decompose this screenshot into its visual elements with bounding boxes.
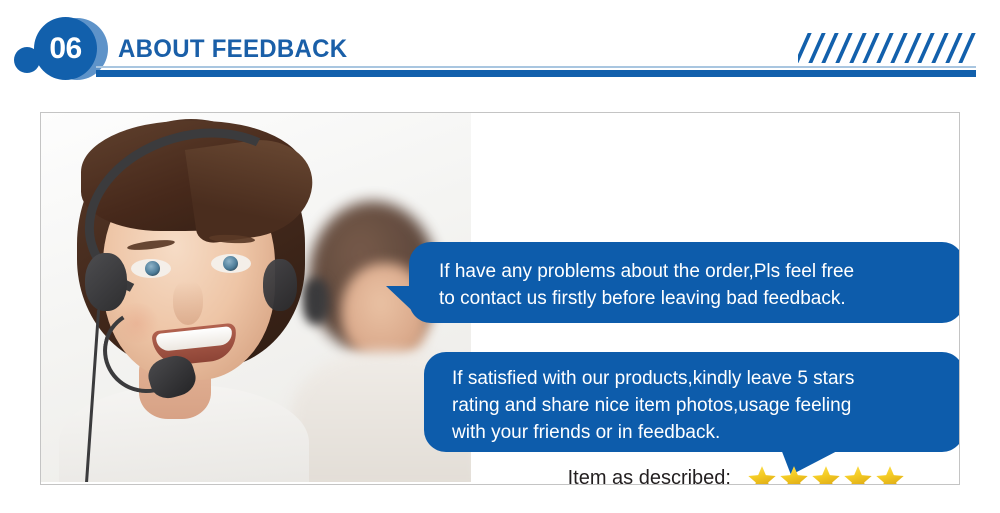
speech-bubble-order-problem: If have any problems about the order,Pls… [409,242,960,323]
section-number: 06 [34,17,97,80]
decorative-stripes [798,33,976,63]
background-person-headset [303,278,329,324]
headset-earcup-left [85,253,127,311]
star-icon [747,464,777,486]
page-header: 06 ABOUT FEEDBACK [0,0,1000,100]
star-rating [747,464,905,486]
speech-bubble-order-problem-text: If have any problems about the order,Pls… [439,258,944,312]
star-icon [843,464,873,486]
rating-row: Item as described: [531,457,960,485]
speech-bubble-satisfied-rating-text: If satisfied with our products,kindly le… [452,365,946,446]
feedback-panel: If have any problems about the order,Pls… [40,112,960,485]
speech-bubble-satisfied-rating: If satisfied with our products,kindly le… [424,352,960,452]
star-icon [811,464,841,486]
rating-label: Item as described: [531,467,747,485]
header-rule-thin [96,66,976,68]
headset-earcup-right [263,259,297,311]
star-icon [779,464,809,486]
star-icon [875,464,905,486]
rating-list: Item as described:Communication:Shipping… [531,457,960,485]
speech-bubble-order-problem-tail [386,286,422,320]
header-rule-thick [96,70,976,77]
page-title: ABOUT FEEDBACK [118,35,347,64]
